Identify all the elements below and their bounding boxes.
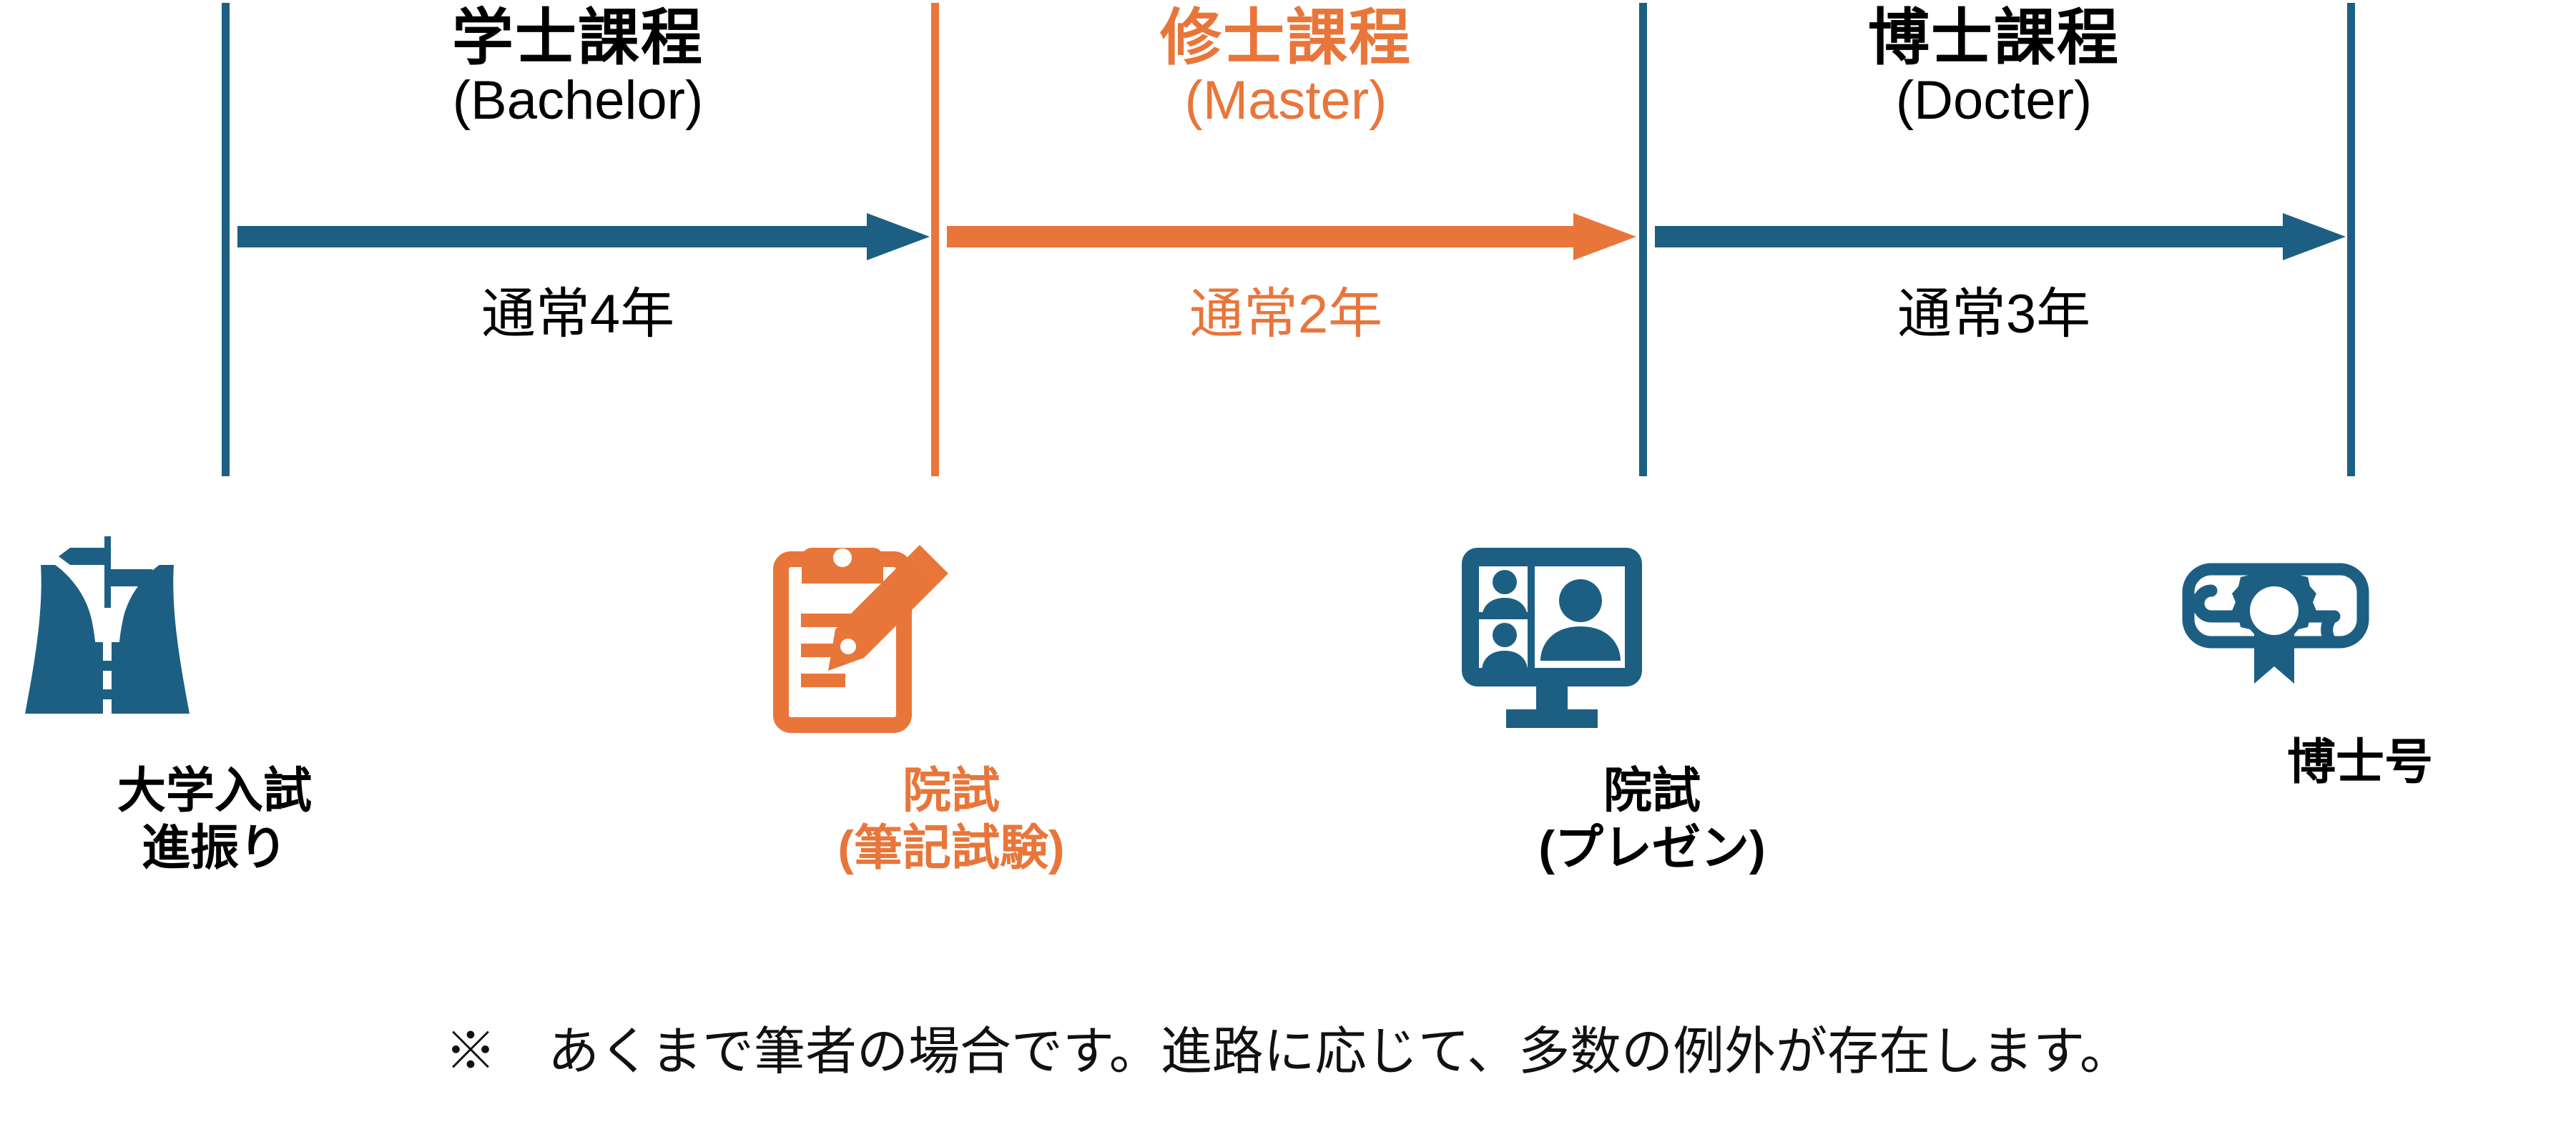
stage-duration-doctor: 通常3年	[1639, 285, 2349, 345]
milestone-label-line1: 大学入試	[0, 762, 429, 819]
milestone-label-line1: 院試	[744, 762, 1159, 819]
diploma-scroll-ribbon-icon	[2167, 549, 2553, 721]
stage-title-bachelor: 学士課程	[222, 6, 934, 70]
stage-duration-bachelor: 通常4年	[222, 285, 934, 345]
stage-title-doctor: 博士課程	[1639, 6, 2349, 70]
milestone-label-grad-presentation: 院試 (プレゼン)	[1445, 762, 1859, 877]
stage-subtitle-master: (Master)	[931, 70, 1641, 131]
footnote: ※ あくまで筆者の場合です。進路に応じて、多数の例外が存在します。	[0, 1021, 2576, 1083]
milestone-label-line2: (プレゼン)	[1445, 819, 1859, 877]
stage-arrow-master	[947, 212, 1636, 262]
milestone-label-university-entrance: 大学入試 進振り	[0, 762, 429, 877]
milestone-doctorate: 博士号	[2167, 549, 2553, 791]
milestone-label-line2: 進振り	[0, 819, 429, 877]
milestone-label-line1: 博士号	[2167, 734, 2553, 791]
video-presentation-monitor-icon	[1445, 535, 1859, 749]
stage-duration-master: 通常2年	[931, 285, 1641, 345]
milestone-grad-written-exam: 院試 (筆記試験)	[744, 535, 1159, 877]
milestone-label-doctorate: 博士号	[2167, 734, 2553, 791]
milestone-label-grad-written-exam: 院試 (筆記試験)	[744, 762, 1159, 877]
stage-title-master: 修士課程	[931, 6, 1641, 70]
stage-subtitle-doctor: (Docter)	[1639, 70, 2349, 131]
stage-subtitle-bachelor: (Bachelor)	[222, 70, 934, 131]
milestone-label-line2: (筆記試験)	[744, 819, 1159, 877]
diagram-canvas: 学士課程 (Bachelor) 通常4年 修士課程 (Master) 通常2年 …	[0, 0, 2576, 1142]
stage-arrow-bachelor	[237, 212, 930, 262]
stage-arrow-doctor	[1655, 212, 2346, 262]
milestone-grad-presentation: 院試 (プレゼン)	[1445, 535, 1859, 877]
clipboard-pencil-icon	[744, 535, 1159, 749]
road-fork-signpost-icon	[0, 535, 429, 749]
milestone-label-line1: 院試	[1445, 762, 1859, 819]
milestone-university-entrance: 大学入試 進振り	[0, 535, 429, 877]
